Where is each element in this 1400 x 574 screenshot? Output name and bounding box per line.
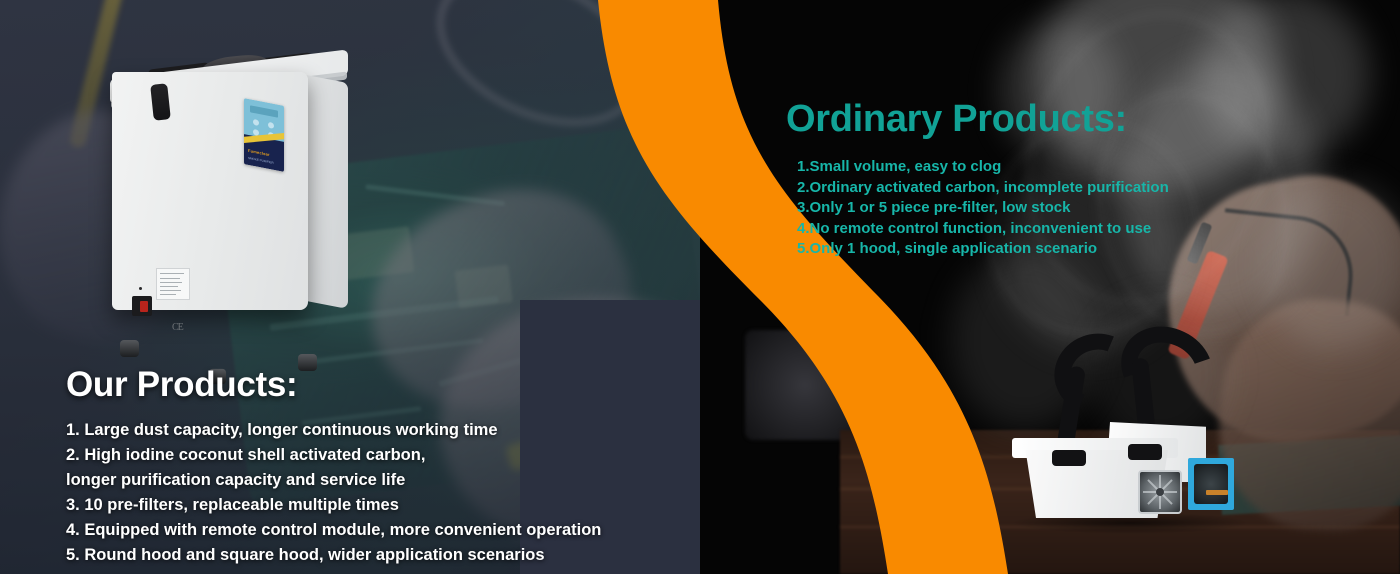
arm-mount xyxy=(1052,450,1086,466)
comparison-banner: CE Fumeclear SMOKE PURIFIER xyxy=(0,0,1400,574)
ordinary-products-title: Ordinary Products: xyxy=(786,98,1127,141)
our-products-title: Our Products: xyxy=(66,365,297,405)
our-feature-item: 4. Equipped with remote control module, … xyxy=(66,518,626,543)
control-panel[interactable]: Fumeclear SMOKE PURIFIER xyxy=(244,98,284,172)
our-feature-item: 3. 10 pre-filters, replaceable multiple … xyxy=(66,493,626,518)
background-fan xyxy=(745,330,865,440)
spec-label xyxy=(156,268,190,300)
ce-mark: CE xyxy=(172,322,183,333)
our-feature-item: 1. Large dust capacity, longer continuou… xyxy=(66,418,626,443)
panel-display xyxy=(250,105,278,117)
caster-wheel xyxy=(120,340,139,357)
side-latch[interactable] xyxy=(150,83,171,121)
ordinary-products-list: 1.Small volume, easy to clog 2.Ordinary … xyxy=(797,157,1169,260)
blue-module xyxy=(1188,458,1234,510)
our-feature-item: 2. High iodine coconut shell activated c… xyxy=(66,443,626,468)
ordinary-drawback-item: 1.Small volume, easy to clog xyxy=(797,157,1169,178)
ordinary-smoke-absorber xyxy=(1010,330,1270,545)
our-feature-item: 5. Round hood and square hood, wider app… xyxy=(66,543,626,568)
our-products-list: 1. Large dust capacity, longer continuou… xyxy=(66,418,626,568)
caster-wheel xyxy=(298,354,317,371)
arm-mount xyxy=(1128,444,1162,460)
ordinary-drawback-item: 3.Only 1 or 5 piece pre-filter, low stoc… xyxy=(797,198,1169,219)
panel-button[interactable] xyxy=(268,122,274,129)
white-fume-extractor: CE Fumeclear SMOKE PURIFIER xyxy=(100,30,360,340)
indicator-dot xyxy=(139,287,142,290)
ordinary-drawback-item: 5.Only 1 hood, single application scenar… xyxy=(797,239,1169,260)
ordinary-drawback-item: 4.No remote control function, inconvenie… xyxy=(797,219,1169,240)
panel-button[interactable] xyxy=(253,119,259,126)
power-switch[interactable] xyxy=(132,296,152,316)
fan-grille xyxy=(1138,470,1182,514)
our-feature-item: longer purification capacity and service… xyxy=(66,468,626,493)
ordinary-drawback-item: 2.Ordinary activated carbon, incomplete … xyxy=(797,178,1169,199)
